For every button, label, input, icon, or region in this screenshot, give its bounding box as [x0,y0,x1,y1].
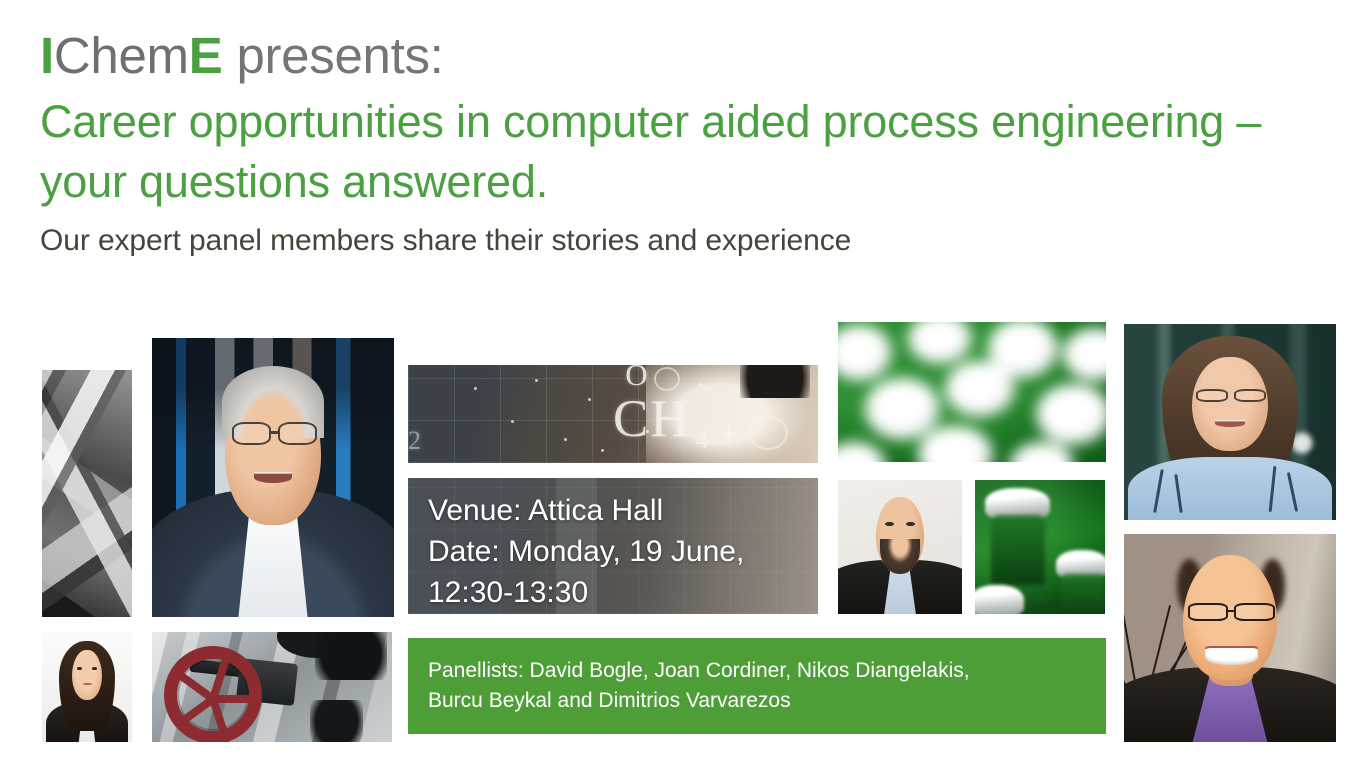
handwheel-spoke [209,654,231,700]
bottle-body [991,515,1046,585]
image-green-bottles [975,480,1105,614]
presentation-slide: IChemEpresents: Career opportunities in … [0,0,1371,771]
chem-formula-subscript-4: 4 [695,424,711,455]
handwheel-spoke [213,695,259,703]
glasses-bridge-icon [271,431,278,433]
image-portrait-burcu-beykal [42,632,132,742]
icheme-logo-e: E [189,27,223,84]
portrait-smile [1205,648,1258,665]
panellists-banner: Panellists: David Bogle, Joan Cordiner, … [408,638,1106,734]
image-portrait-dimitrios-varvarezos [1124,534,1336,742]
image-portrait-nikos-diangelakis [838,480,962,614]
image-green-bottle-caps-bokeh [838,322,1106,462]
red-handwheel-icon [164,646,262,742]
panellists-text: Panellists: David Bogle, Joan Cordiner, … [408,656,990,716]
handwheel-spoke [173,669,215,703]
glasses-right-lens-icon [1234,603,1274,622]
page-title: Career opportunities in computer aided p… [40,92,1330,212]
page-subtitle: Our expert panel members share their sto… [40,222,1340,260]
bottle-body [1061,574,1105,614]
chem-formula-ch: CH [613,389,691,449]
glasses-right-lens-icon [1234,389,1266,403]
portrait-left-eye [885,522,894,527]
chem-formula-ring-small [654,367,680,391]
glasses-left-lens-icon [1188,603,1228,622]
glasses-left-lens-icon [1196,389,1228,403]
icheme-logo-chem: Chem [54,27,189,84]
image-portrait-joan-cordiner [1124,324,1336,520]
image-portrait-david-bogle [152,338,394,617]
icheme-logo-i: I [40,27,54,84]
image-industrial-valve [152,632,392,742]
glasses-bridge-icon [1228,610,1234,612]
portrait-face [72,650,103,701]
glasses-right-lens-icon [278,422,317,446]
presents-word: presents: [236,27,443,84]
portrait-right-eye [906,522,915,527]
glasses-left-lens-icon [232,422,271,446]
image-chemistry-chalkboard: O CH 4 + 2 [408,365,818,463]
handwheel-spoke [209,698,231,742]
bottle-cap [975,585,1024,614]
dark-region-lower [310,700,363,742]
chem-formula-plus: + [720,416,739,452]
header-block: IChemEpresents: Career opportunities in … [40,26,1340,259]
industrial-pipes-photo [42,370,132,617]
dark-region-upper [315,632,387,680]
chem-formula-left-symbols: 2 [408,426,423,456]
logo-and-presents-line: IChemEpresents: [40,26,1340,86]
chem-formula-ring-large [748,416,788,450]
image-industrial-pipes [42,370,132,617]
bokeh-highlights [838,322,1106,462]
venue-details-panel: Venue: Attica Hall Date: Monday, 19 June… [408,478,818,614]
portrait-smile [1215,420,1245,427]
venue-details-text: Venue: Attica Hall Date: Monday, 19 June… [428,490,744,613]
portrait-shirt-stripes [1128,457,1332,520]
portrait-face [1192,357,1268,451]
